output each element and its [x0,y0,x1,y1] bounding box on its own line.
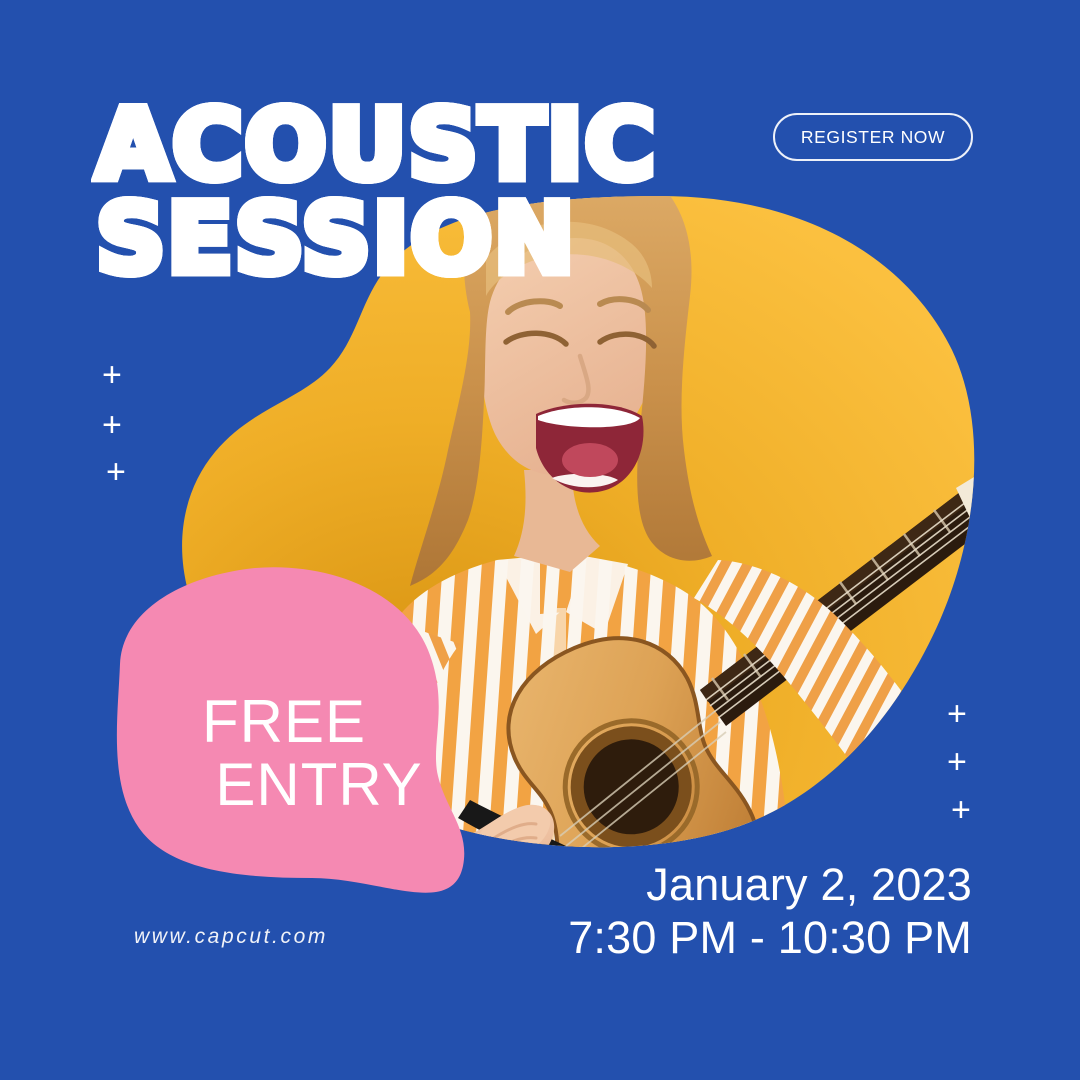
plus-icon-left-3: + [106,455,126,489]
free-entry-line-1: FREE [150,690,440,753]
free-entry-badge: FREE ENTRY [150,690,440,816]
title-line-1: ACOUSTIC [96,98,716,192]
event-date: January 2, 2023 [568,858,972,911]
plus-icon-left-1: + [102,358,122,392]
poster-canvas: ACOUSTIC SESSION REGISTER NOW FREE ENTRY… [0,0,1080,1080]
plus-icon-right-1: + [947,697,967,731]
page-title: ACOUSTIC SESSION [96,98,716,286]
website-url: www.capcut.com [134,925,328,949]
plus-icon-left-2: + [102,408,122,442]
title-line-2: SESSION [96,192,716,286]
free-entry-line-2: ENTRY [150,753,440,816]
register-now-button[interactable]: REGISTER NOW [773,113,973,161]
event-datetime: January 2, 2023 7:30 PM - 10:30 PM [568,858,972,964]
plus-icon-right-3: + [951,793,971,827]
event-time: 7:30 PM - 10:30 PM [568,911,972,964]
plus-icon-right-2: + [947,745,967,779]
